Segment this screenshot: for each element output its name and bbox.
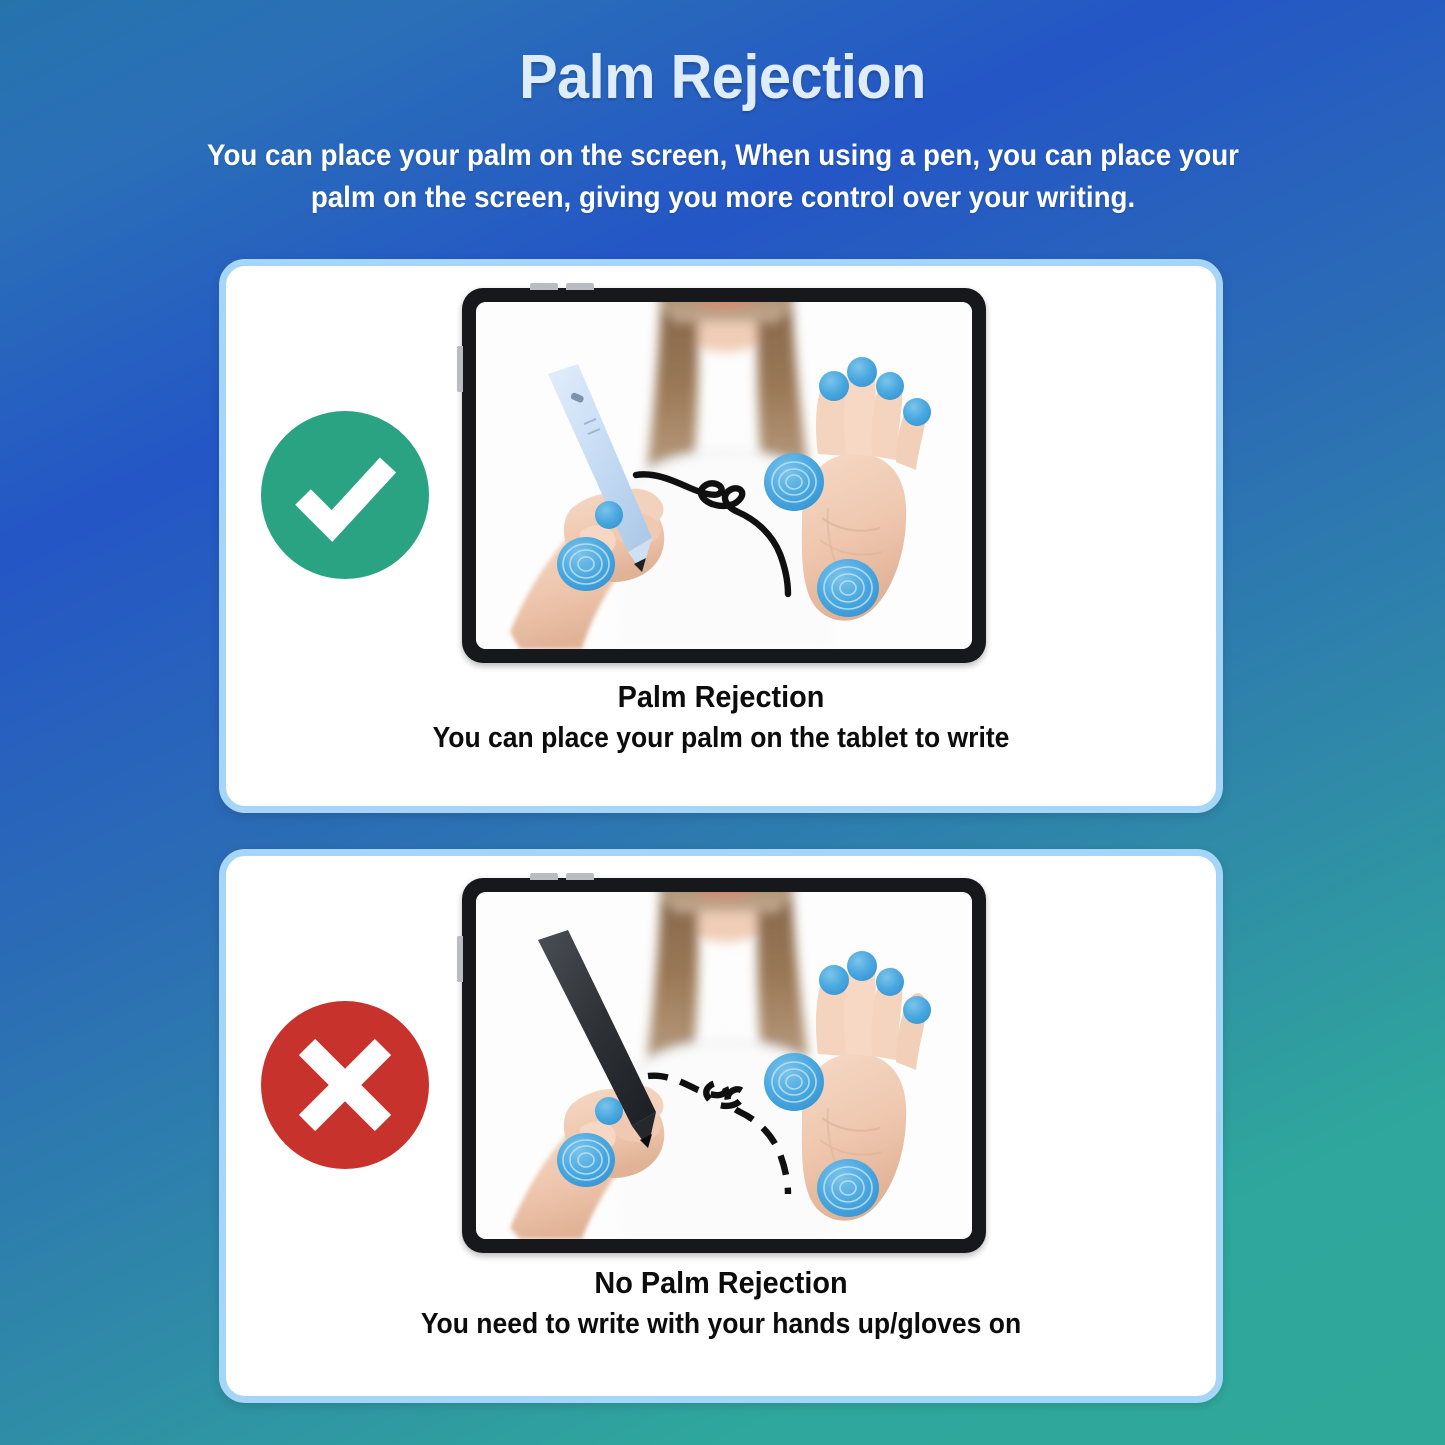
volume-up-button-icon [530,873,558,880]
touch-point [595,1097,623,1125]
caption-title: No Palm Rejection [261,1266,1182,1300]
card-body: No Palm Rejection You need to write with… [226,856,1216,1396]
touch-point [595,501,623,529]
check-circle-icon [259,409,431,581]
touch-point [847,357,877,387]
volume-down-button-icon [566,283,594,290]
touch-point [817,1159,879,1217]
poster-header: Palm Rejection You can place your palm o… [0,0,1445,219]
page-title: Palm Rejection [51,0,1395,109]
tablet-device [462,878,986,1253]
card-body: Palm Rejection You can place your palm o… [226,266,1216,806]
touch-point [903,398,931,426]
x-circle-icon [259,999,431,1171]
palm-rejection-poster: Palm Rejection You can place your palm o… [0,0,1445,1445]
touch-point [847,951,877,981]
feature-card-palm-rejection: Palm Rejection You can place your palm o… [219,259,1223,813]
volume-down-button-icon [566,873,594,880]
volume-up-button-icon [530,283,558,290]
page-subtitle: You can place your palm on the screen, W… [173,109,1273,219]
tablet-screen [476,892,972,1239]
no-palm-rejection-illustration [476,892,972,1239]
caption-subtitle: You can place your palm on the tablet to… [261,714,1182,754]
palm-rejection-illustration [476,302,972,649]
caption-title: Palm Rejection [261,680,1182,714]
touch-point [876,372,904,400]
power-button-icon [457,346,463,392]
touch-point [764,1053,824,1111]
touch-point [817,559,879,617]
feature-card-no-palm-rejection: No Palm Rejection You need to write with… [219,849,1223,1403]
touch-point [819,965,849,995]
tablet-screen [476,302,972,649]
card-caption: No Palm Rejection You need to write with… [226,1266,1216,1340]
caption-subtitle: You need to write with your hands up/glo… [261,1300,1182,1340]
power-button-icon [457,936,463,982]
touch-point [819,371,849,401]
touch-point [876,968,904,996]
touch-point [557,537,615,591]
tablet-device [462,288,986,663]
touch-point [764,453,824,511]
touch-point [903,996,931,1024]
card-caption: Palm Rejection You can place your palm o… [226,680,1216,754]
touch-point [557,1133,615,1187]
